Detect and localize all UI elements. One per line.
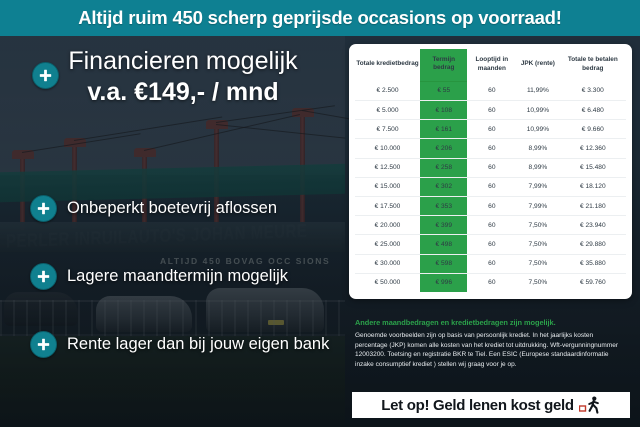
cell-totaal: € 59.760: [560, 273, 626, 292]
disclaimer-block: Andere maandbedragen en kredietbedragen …: [355, 318, 627, 369]
cell-termijnbedrag: € 598: [420, 254, 467, 273]
table-row: € 17.500 € 353 60 7,99% € 21.180: [355, 196, 626, 215]
cell-totaal: € 3.300: [560, 81, 626, 100]
top-banner: Altijd ruim 450 scherp geprijsde occasio…: [0, 0, 640, 36]
cell-totaal: € 12.360: [560, 139, 626, 158]
cell-termijnbedrag: € 258: [420, 158, 467, 177]
list-item: Onbeperkt boetevrij aflossen: [30, 174, 345, 242]
benefit-label: Rente lager dan bij jouw eigen bank: [67, 335, 329, 354]
cell-totaal: € 23.940: [560, 216, 626, 235]
cell-termijnbedrag: € 206: [420, 139, 467, 158]
benefit-label: Onbeperkt boetevrij aflossen: [67, 199, 277, 218]
list-item: Rente lager dan bij jouw eigen bank: [30, 310, 345, 378]
cell-totaal: € 29.880: [560, 235, 626, 254]
table-header-row: Totale kredietbedrag Termijn bedrag Loop…: [355, 49, 626, 81]
cell-kredietbedrag: € 10.000: [355, 139, 420, 158]
cell-kredietbedrag: € 5.000: [355, 101, 420, 120]
cell-kredietbedrag: € 17.500: [355, 196, 420, 215]
top-banner-text: Altijd ruim 450 scherp geprijsde occasio…: [78, 7, 562, 29]
column-header-termijn-bedrag: Termijn bedrag: [420, 49, 467, 81]
cell-totaal: € 15.480: [560, 158, 626, 177]
rate-table-body: € 2.500 € 55 60 11,99% € 3.300 € 5.000 €…: [355, 81, 626, 292]
benefits-list: Onbeperkt boetevrij aflossen Lagere maan…: [30, 174, 345, 378]
cell-kredietbedrag: € 25.000: [355, 235, 420, 254]
cell-looptijd: 60: [467, 254, 516, 273]
credit-warning-bar: Let op! Geld lenen kost geld: [352, 392, 630, 418]
left-content-column: Financieren mogelijk v.a. €149,- / mnd O…: [0, 36, 345, 427]
cell-jpk: 10,99%: [516, 101, 559, 120]
column-header-totale-te-betalen: Totale te betalen bedrag: [560, 49, 626, 81]
cell-totaal: € 18.120: [560, 177, 626, 196]
cell-looptijd: 60: [467, 273, 516, 292]
plus-icon: [30, 331, 57, 358]
cell-totaal: € 21.180: [560, 196, 626, 215]
cell-jpk: 7,50%: [516, 273, 559, 292]
rate-table-head: Totale kredietbedrag Termijn bedrag Loop…: [355, 49, 626, 81]
table-row: € 5.000 € 108 60 10,99% € 6.480: [355, 101, 626, 120]
cell-kredietbedrag: € 15.000: [355, 177, 420, 196]
advertisement-banner: PERLER INRUILAUTO'S JOHAN MEURE ALTIJD 4…: [0, 0, 640, 427]
cell-kredietbedrag: € 20.000: [355, 216, 420, 235]
cell-termijnbedrag: € 161: [420, 120, 467, 139]
headline-line-2: v.a. €149,- / mnd: [28, 76, 338, 108]
cell-looptijd: 60: [467, 139, 516, 158]
table-row: € 12.500 € 258 60 8,99% € 15.480: [355, 158, 626, 177]
cell-totaal: € 6.480: [560, 101, 626, 120]
headline-line-1: Financieren mogelijk: [28, 46, 338, 76]
rate-table: Totale kredietbedrag Termijn bedrag Loop…: [355, 49, 626, 292]
table-row: € 10.000 € 206 60 8,99% € 12.360: [355, 139, 626, 158]
credit-warning-text: Let op! Geld lenen kost geld: [381, 397, 573, 414]
plus-icon: [30, 195, 57, 222]
cell-looptijd: 60: [467, 177, 516, 196]
cell-jpk: 7,99%: [516, 177, 559, 196]
cell-kredietbedrag: € 2.500: [355, 81, 420, 100]
rate-table-card: Totale kredietbedrag Termijn bedrag Loop…: [349, 44, 632, 299]
table-row: € 30.000 € 598 60 7,50% € 35.880: [355, 254, 626, 273]
cell-looptijd: 60: [467, 196, 516, 215]
cell-termijnbedrag: € 353: [420, 196, 467, 215]
cell-jpk: 8,99%: [516, 139, 559, 158]
column-header-looptijd: Looptijd in maanden: [467, 49, 516, 81]
cell-kredietbedrag: € 30.000: [355, 254, 420, 273]
cell-kredietbedrag: € 7.500: [355, 120, 420, 139]
cell-jpk: 7,50%: [516, 254, 559, 273]
list-item: Lagere maandtermijn mogelijk: [30, 242, 345, 310]
cell-totaal: € 35.880: [560, 254, 626, 273]
cell-termijnbedrag: € 498: [420, 235, 467, 254]
column-header-totale-kredietbedrag: Totale kredietbedrag: [355, 49, 420, 81]
cell-looptijd: 60: [467, 158, 516, 177]
table-row: € 20.000 € 399 60 7,50% € 23.940: [355, 216, 626, 235]
benefit-label: Lagere maandtermijn mogelijk: [67, 267, 288, 286]
headline: Financieren mogelijk v.a. €149,- / mnd: [28, 46, 338, 108]
cell-looptijd: 60: [467, 120, 516, 139]
cell-looptijd: 60: [467, 216, 516, 235]
cell-jpk: 11,99%: [516, 81, 559, 100]
disclaimer-body: Genoemde voorbeelden zijn op basis van p…: [355, 331, 627, 369]
table-row: € 15.000 € 302 60 7,99% € 18.120: [355, 177, 626, 196]
disclaimer-title: Andere maandbedragen en kredietbedragen …: [355, 318, 627, 327]
cell-jpk: 7,50%: [516, 216, 559, 235]
table-row: € 7.500 € 161 60 10,99% € 9.660: [355, 120, 626, 139]
walking-person-icon: [579, 396, 601, 414]
cell-jpk: 10,99%: [516, 120, 559, 139]
plus-icon: [30, 263, 57, 290]
cell-termijnbedrag: € 302: [420, 177, 467, 196]
column-header-jpk: JPK (rente): [516, 49, 559, 81]
cell-looptijd: 60: [467, 101, 516, 120]
cell-jpk: 7,99%: [516, 196, 559, 215]
cell-termijnbedrag: € 55: [420, 81, 467, 100]
table-row: € 50.000 € 996 60 7,50% € 59.760: [355, 273, 626, 292]
table-row: € 2.500 € 55 60 11,99% € 3.300: [355, 81, 626, 100]
cell-jpk: 8,99%: [516, 158, 559, 177]
cell-kredietbedrag: € 50.000: [355, 273, 420, 292]
cell-termijnbedrag: € 399: [420, 216, 467, 235]
cell-looptijd: 60: [467, 235, 516, 254]
cell-termijnbedrag: € 996: [420, 273, 467, 292]
cell-kredietbedrag: € 12.500: [355, 158, 420, 177]
cell-jpk: 7,50%: [516, 235, 559, 254]
table-row: € 25.000 € 498 60 7,50% € 29.880: [355, 235, 626, 254]
cell-termijnbedrag: € 108: [420, 101, 467, 120]
cell-looptijd: 60: [467, 81, 516, 100]
cell-totaal: € 9.660: [560, 120, 626, 139]
